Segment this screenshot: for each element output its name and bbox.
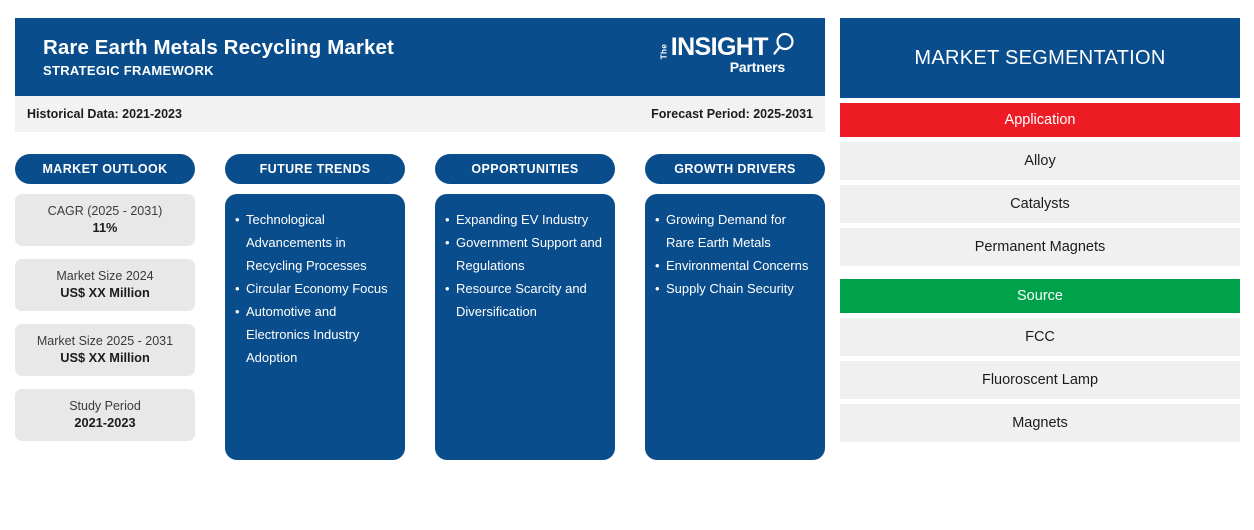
market-outlook-stats: CAGR (2025 - 2031) 11% Market Size 2024 …	[15, 194, 195, 441]
future-trends-list: Technological Advancements in Recycling …	[235, 208, 395, 369]
historical-data-label: Historical Data: 2021-2023	[27, 107, 182, 121]
stat-value: 11%	[93, 221, 118, 236]
stat-label: Study Period	[69, 399, 141, 413]
list-item: Expanding EV Industry	[445, 208, 605, 231]
opportunities-card: Expanding EV Industry Government Support…	[435, 194, 615, 460]
stat-value: 2021-2023	[74, 416, 135, 431]
stat-label: CAGR (2025 - 2031)	[48, 204, 163, 218]
growth-drivers-card: Growing Demand for Rare Earth Metals Env…	[645, 194, 825, 460]
list-item: Technological Advancements in Recycling …	[235, 208, 395, 277]
page-subtitle: STRATEGIC FRAMEWORK	[43, 63, 394, 78]
list-item: Fluoroscent Lamp	[840, 361, 1240, 399]
logo-wordmark: The INSIGHT	[655, 35, 768, 60]
stat-card-study-period: Study Period 2021-2023	[15, 389, 195, 441]
stat-card-cagr: CAGR (2025 - 2031) 11%	[15, 194, 195, 246]
stat-value: US$ XX Million	[60, 286, 150, 301]
column-heading-future-trends: FUTURE TRENDS	[225, 154, 405, 184]
column-heading-opportunities: OPPORTUNITIES	[435, 154, 615, 184]
list-item: Resource Scarcity and Diversification	[445, 277, 605, 323]
future-trends-card: Technological Advancements in Recycling …	[225, 194, 405, 460]
list-item: Growing Demand for Rare Earth Metals	[655, 208, 815, 254]
column-heading-market-outlook: MARKET OUTLOOK	[15, 154, 195, 184]
list-item: Magnets	[840, 404, 1240, 442]
logo-the-text: The	[660, 43, 669, 59]
segment-title-application: Application	[840, 103, 1240, 137]
column-heading-growth-drivers: GROWTH DRIVERS	[645, 154, 825, 184]
strategic-framework-panel: Rare Earth Metals Recycling Market STRAT…	[15, 18, 825, 460]
forecast-period-label: Forecast Period: 2025-2031	[651, 107, 813, 121]
segmentation-heading: MARKET SEGMENTATION	[840, 18, 1240, 98]
list-item: Permanent Magnets	[840, 228, 1240, 266]
column-growth-drivers: GROWTH DRIVERS Growing Demand for Rare E…	[645, 154, 825, 460]
list-item: FCC	[840, 318, 1240, 356]
title-block: Rare Earth Metals Recycling Market STRAT…	[43, 36, 394, 79]
column-future-trends: FUTURE TRENDS Technological Advancements…	[225, 154, 405, 460]
stat-card-market-size-2024: Market Size 2024 US$ XX Million	[15, 259, 195, 311]
logo-partners-text: Partners	[730, 60, 785, 74]
list-item: Circular Economy Focus	[235, 277, 395, 300]
list-item: Government Support and Regulations	[445, 231, 605, 277]
infographic-root: Rare Earth Metals Recycling Market STRAT…	[0, 0, 1254, 530]
list-item: Supply Chain Security	[655, 277, 815, 300]
title-bar: Rare Earth Metals Recycling Market STRAT…	[15, 18, 825, 96]
segment-title-source: Source	[840, 279, 1240, 313]
page-title: Rare Earth Metals Recycling Market	[43, 36, 394, 61]
growth-drivers-list: Growing Demand for Rare Earth Metals Env…	[655, 208, 815, 300]
stat-value: US$ XX Million	[60, 351, 150, 366]
market-segmentation-panel: MARKET SEGMENTATION Application Alloy Ca…	[840, 18, 1240, 442]
magnifier-icon	[771, 32, 797, 58]
framework-columns: MARKET OUTLOOK CAGR (2025 - 2031) 11% Ma…	[15, 154, 825, 460]
list-item: Automotive and Electronics Industry Adop…	[235, 300, 395, 369]
stat-label: Market Size 2025 - 2031	[37, 334, 173, 348]
stat-card-market-size-forecast: Market Size 2025 - 2031 US$ XX Million	[15, 324, 195, 376]
opportunities-list: Expanding EV Industry Government Support…	[445, 208, 605, 323]
list-item: Catalysts	[840, 185, 1240, 223]
insight-partners-logo: The INSIGHT Partners	[655, 31, 797, 83]
logo-insight-text: INSIGHT	[671, 35, 768, 60]
segment-group-application: Application Alloy Catalysts Permanent Ma…	[840, 103, 1240, 266]
column-market-outlook: MARKET OUTLOOK CAGR (2025 - 2031) 11% Ma…	[15, 154, 195, 441]
column-opportunities: OPPORTUNITIES Expanding EV Industry Gove…	[435, 154, 615, 460]
list-item: Alloy	[840, 142, 1240, 180]
period-bar: Historical Data: 2021-2023 Forecast Peri…	[15, 96, 825, 132]
list-item: Environmental Concerns	[655, 254, 815, 277]
stat-label: Market Size 2024	[56, 269, 153, 283]
segment-group-source: Source FCC Fluoroscent Lamp Magnets	[840, 279, 1240, 442]
